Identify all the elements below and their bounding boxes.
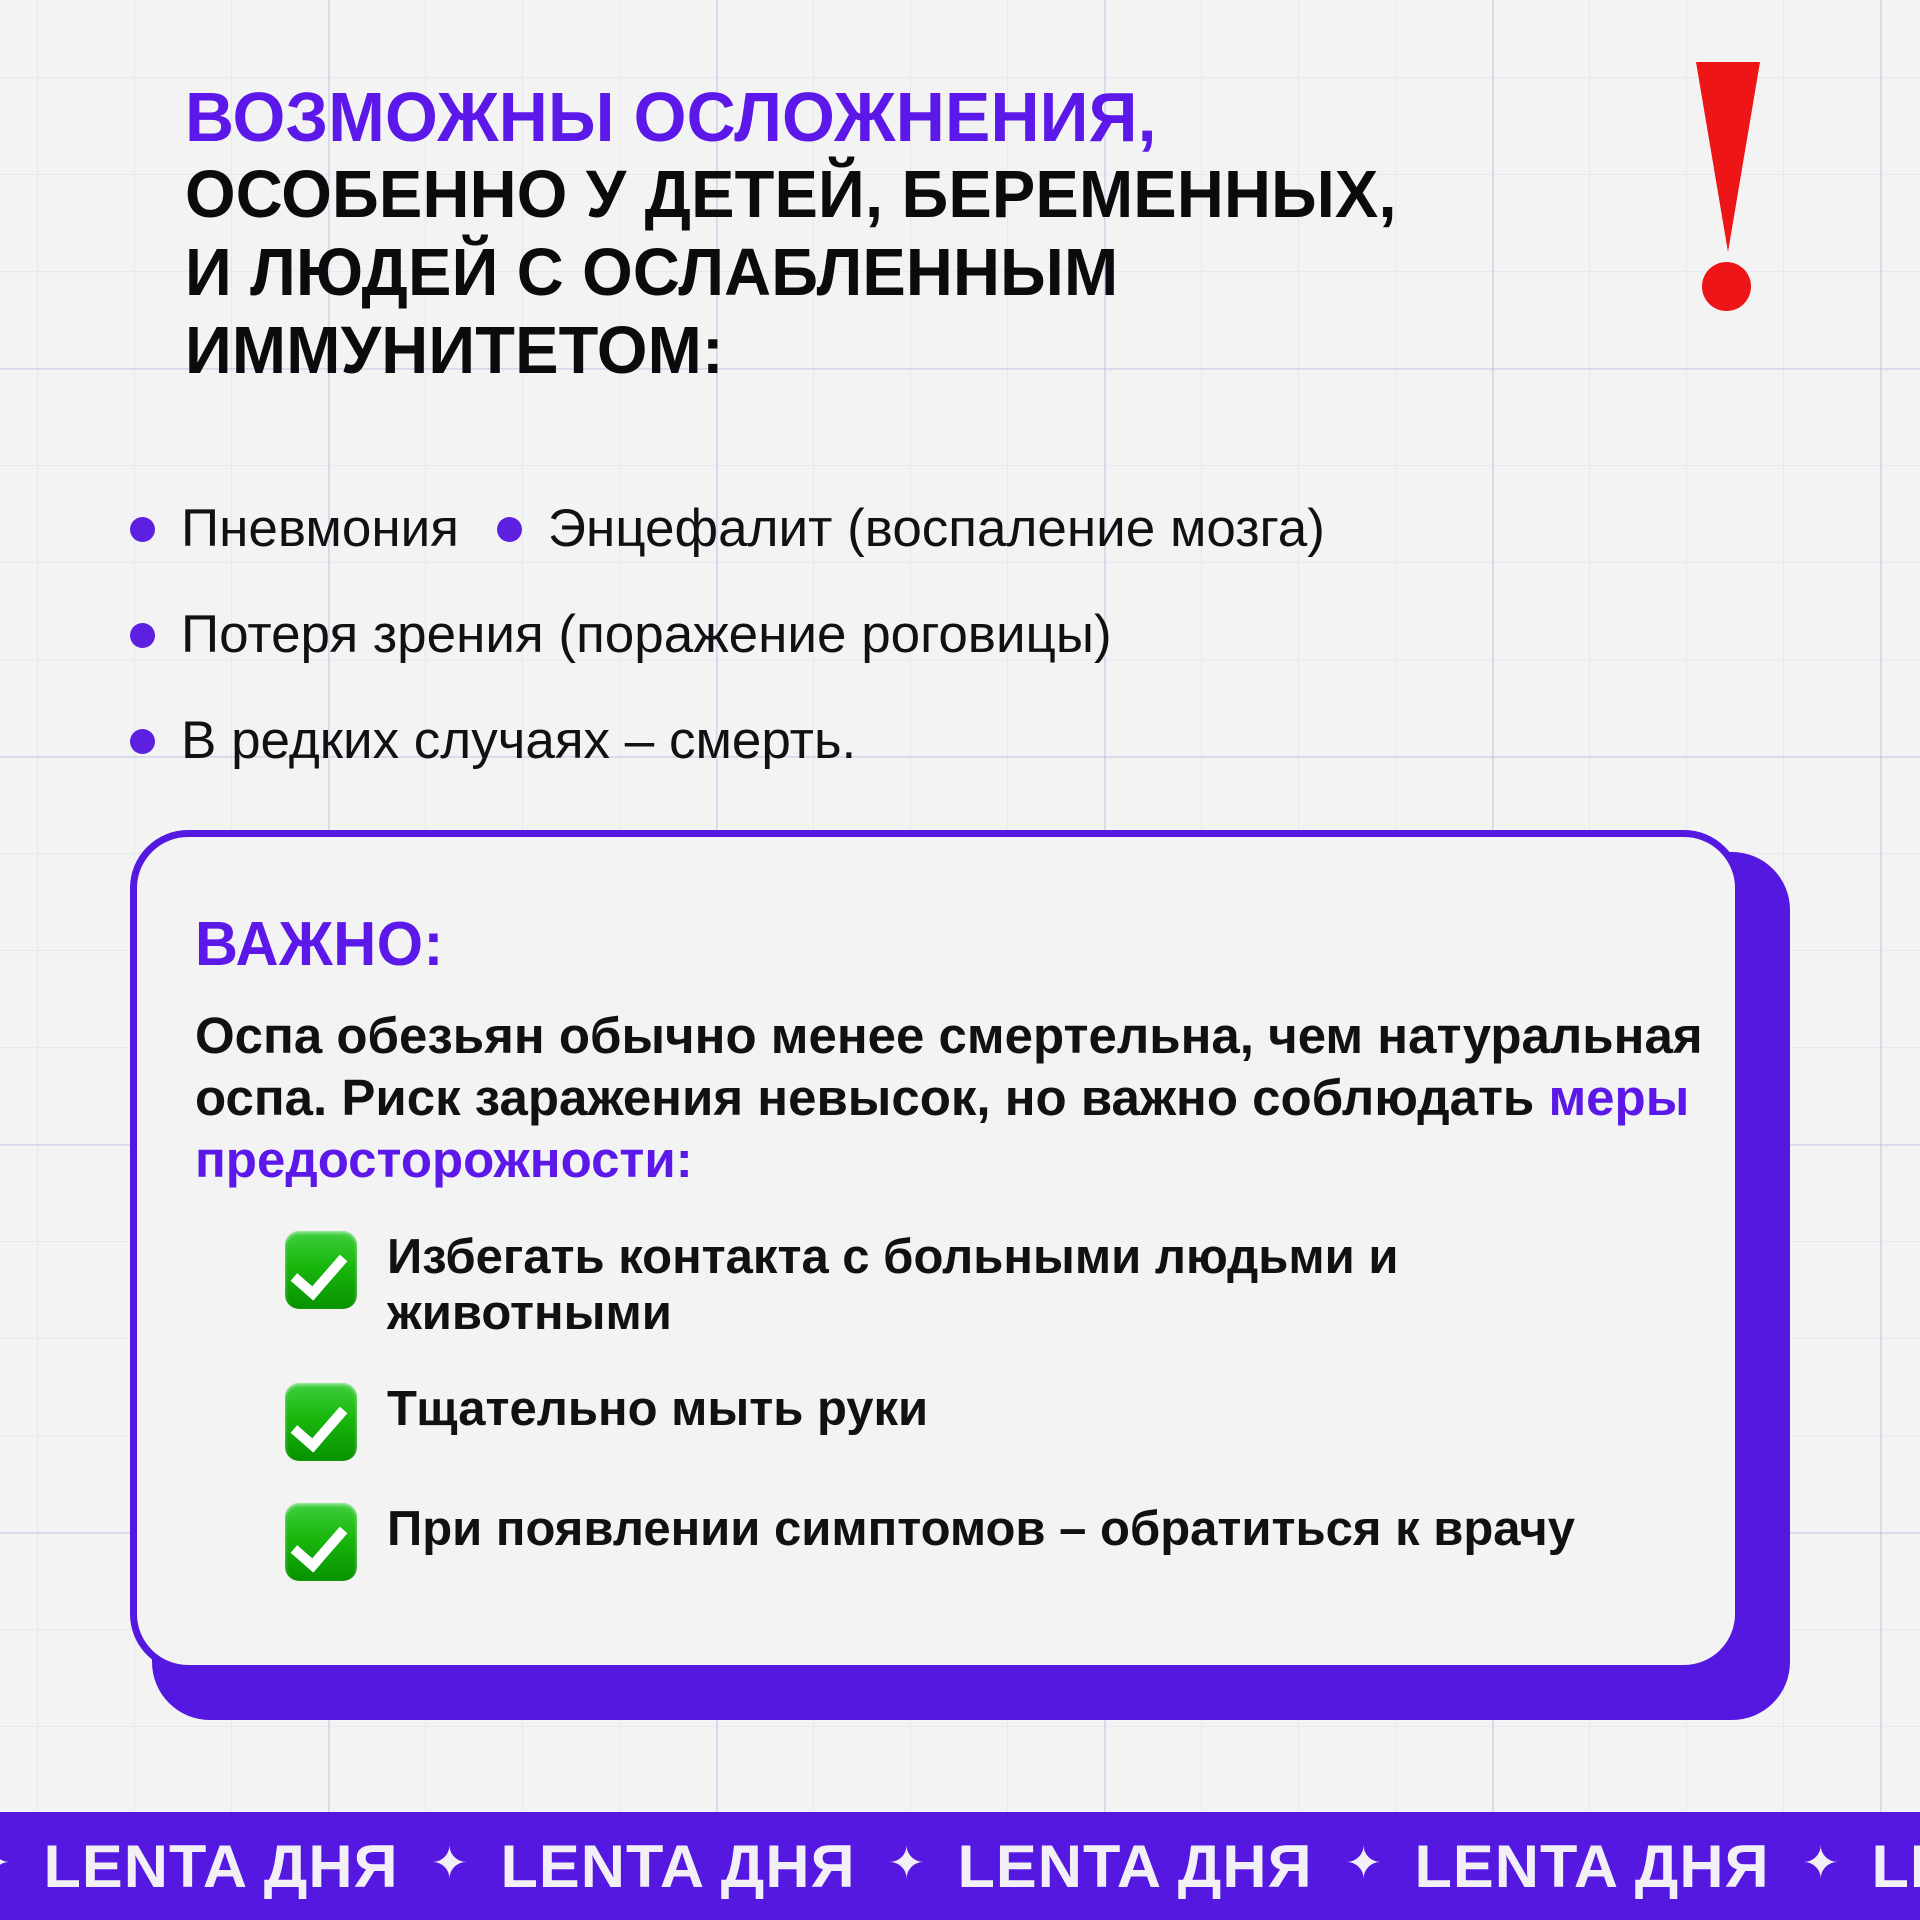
- complication-label-2: Энцефалит (воспаление мозга): [548, 500, 1325, 558]
- check-mark-button-icon: [285, 1503, 357, 1581]
- precaution-label-1: Избегать контакта с больными людьми и жи…: [387, 1227, 1685, 1341]
- complications-list: Пневмония Энцефалит (воспаление мозга) П…: [130, 500, 1830, 818]
- check-mark-button-icon: [285, 1231, 357, 1309]
- important-card: ВАЖНО: Оспа обезьян обычно менее смертел…: [130, 830, 1790, 1720]
- footer-brand-label: LENTA ДНЯ: [1415, 1832, 1770, 1901]
- sparkle-icon: ✦: [1345, 1842, 1382, 1886]
- footer-brand-banner: ✦LENTA ДНЯ✦LENTA ДНЯ✦LENTA ДНЯ✦LENTA ДНЯ…: [0, 1812, 1920, 1920]
- headline-block: ВОЗМОЖНЫ ОСЛОЖНЕНИЯ, ОСОБЕННО У ДЕТЕЙ, Б…: [185, 78, 1605, 390]
- complication-label-3: Потеря зрения (поражение роговицы): [181, 606, 1112, 664]
- bullet-dot-icon: [497, 517, 522, 542]
- precautions-checklist: Избегать контакта с больными людьми и жи…: [285, 1227, 1685, 1619]
- complication-label-1: Пневмония: [181, 500, 459, 558]
- headline-line-3: И ЛЮДЕЙ С ОСЛАБЛЕННЫМ: [185, 234, 1562, 312]
- check-mark-button-icon: [285, 1383, 357, 1461]
- infographic-page: ВОЗМОЖНЫ ОСЛОЖНЕНИЯ, ОСОБЕННО У ДЕТЕЙ, Б…: [0, 0, 1920, 1920]
- precaution-label-3: При появлении симптомов – обратиться к в…: [387, 1499, 1575, 1557]
- list-item: Тщательно мыть руки: [285, 1379, 1685, 1461]
- card-paragraph-text: Оспа обезьян обычно менее смертельна, че…: [195, 1007, 1703, 1126]
- headline-line-1: ВОЗМОЖНЫ ОСЛОЖНЕНИЯ,: [185, 78, 1562, 156]
- complication-label-4: В редких случаях – смерть.: [181, 712, 856, 770]
- footer-marquee-track: ✦LENTA ДНЯ✦LENTA ДНЯ✦LENTA ДНЯ✦LENTA ДНЯ…: [0, 1832, 1920, 1901]
- list-item: При появлении симптомов – обратиться к в…: [285, 1499, 1685, 1581]
- bullet-dot-icon: [130, 623, 155, 648]
- list-item: Пневмония Энцефалит (воспаление мозга): [130, 500, 1830, 558]
- footer-brand-label: LENTA ДНЯ: [1872, 1832, 1920, 1901]
- headline-line-4: ИММУНИТЕТОМ:: [185, 312, 1562, 390]
- sparkle-icon: ✦: [0, 1842, 11, 1886]
- bullet-dot-icon: [130, 729, 155, 754]
- headline-line-2: ОСОБЕННО У ДЕТЕЙ, БЕРЕМЕННЫХ,: [185, 156, 1562, 234]
- sparkle-icon: ✦: [1802, 1842, 1839, 1886]
- sparkle-icon: ✦: [888, 1842, 925, 1886]
- footer-brand-label: LENTA ДНЯ: [500, 1832, 855, 1901]
- list-item: В редких случаях – смерть.: [130, 712, 1830, 770]
- exclamation-mark-icon: [1688, 62, 1764, 312]
- card-paragraph: Оспа обезьян обычно менее смертельна, че…: [195, 1005, 1715, 1191]
- card-body: ВАЖНО: Оспа обезьян обычно менее смертел…: [130, 830, 1742, 1672]
- list-item: Избегать контакта с больными людьми и жи…: [285, 1227, 1685, 1341]
- precaution-label-2: Тщательно мыть руки: [387, 1379, 928, 1437]
- footer-brand-label: LENTA ДНЯ: [43, 1832, 398, 1901]
- exclamation-bar: [1696, 62, 1760, 252]
- card-title: ВАЖНО:: [195, 909, 444, 980]
- sparkle-icon: ✦: [431, 1842, 468, 1886]
- exclamation-dot: [1702, 262, 1751, 311]
- footer-brand-label: LENTA ДНЯ: [957, 1832, 1312, 1901]
- list-item: Потеря зрения (поражение роговицы): [130, 606, 1830, 664]
- bullet-dot-icon: [130, 517, 155, 542]
